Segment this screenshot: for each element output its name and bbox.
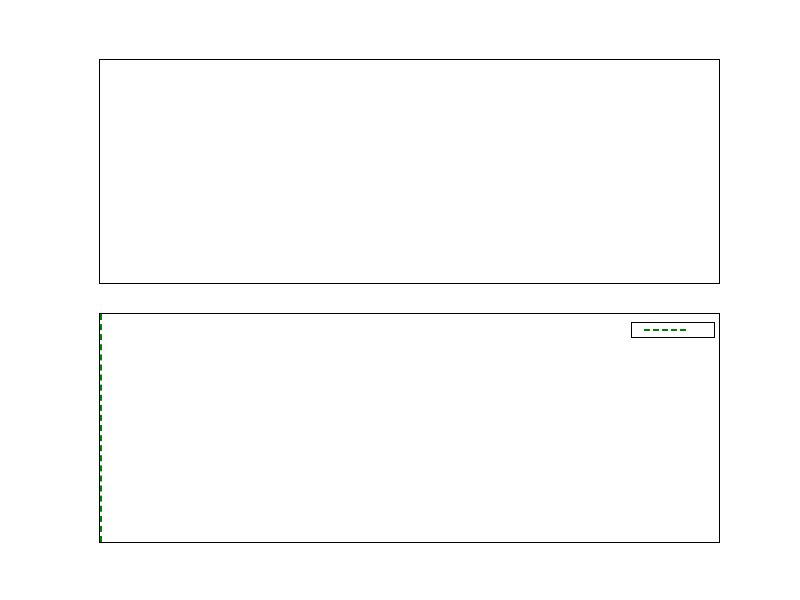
bottom-axes-cumulative-histogram bbox=[99, 313, 720, 543]
histogram-bars bbox=[100, 60, 719, 283]
top-axes-differential-histogram bbox=[99, 59, 720, 284]
legend-mag-limit-swatch-icon bbox=[644, 329, 686, 331]
legend[interactable] bbox=[631, 322, 715, 338]
figure-canvas bbox=[0, 0, 800, 600]
cumulative-curve bbox=[100, 314, 719, 542]
mag-limit-vline bbox=[100, 314, 102, 542]
